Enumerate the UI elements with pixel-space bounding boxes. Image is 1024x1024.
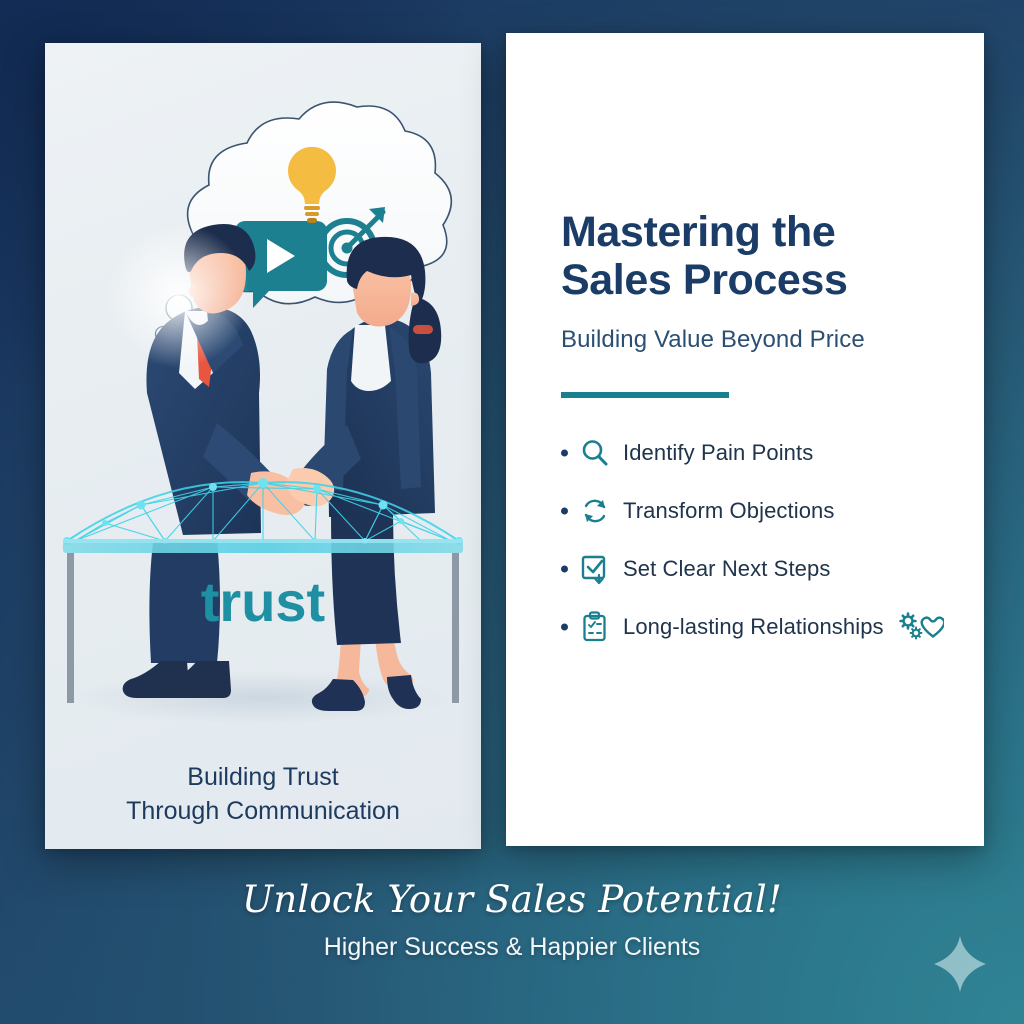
- bullet-dot: [561, 450, 568, 457]
- list-item[interactable]: Identify Pain Points: [561, 437, 961, 469]
- list-item-label: Identify Pain Points: [623, 440, 813, 466]
- title-line-1: Mastering the: [561, 208, 961, 256]
- sparkle-icon: [932, 934, 988, 994]
- list-item[interactable]: Transform Objections: [561, 495, 961, 527]
- illustration-caption: Building Trust Through Communication: [45, 761, 481, 828]
- trust-word: trust: [201, 570, 325, 633]
- bottom-banner: Unlock Your Sales Potential! Higher Succ…: [0, 878, 1024, 962]
- handshake-illustration: trust: [45, 43, 481, 743]
- banner-subline: Higher Success & Happier Clients: [0, 933, 1024, 962]
- caption-line-2: Through Communication: [45, 795, 481, 829]
- bullet-dot: [561, 566, 568, 573]
- bullet-dot: [561, 624, 568, 631]
- sales-process-card: Mastering the Sales Process Building Val…: [506, 33, 984, 846]
- sales-steps-list: Identify Pain Points Transform Objection…: [561, 437, 961, 643]
- refresh-cycle-icon: [579, 495, 611, 527]
- caption-line-1: Building Trust: [45, 761, 481, 795]
- gears-heart-icon: [898, 612, 944, 642]
- title-line-2: Sales Process: [561, 256, 961, 304]
- subtitle: Building Value Beyond Price: [561, 326, 961, 354]
- list-item-label: Transform Objections: [623, 498, 834, 524]
- checkbox-down-icon: [579, 553, 611, 585]
- list-item[interactable]: Set Clear Next Steps: [561, 553, 961, 585]
- list-item[interactable]: Long-lasting Relationships: [561, 611, 961, 643]
- magnifier-icon: [579, 437, 611, 469]
- page-title: Mastering the Sales Process: [561, 208, 961, 304]
- bullet-dot: [561, 508, 568, 515]
- title-divider: [561, 392, 729, 398]
- trust-illustration-card: trust Building Trust Through Communicati…: [45, 43, 481, 849]
- list-item-label: Set Clear Next Steps: [623, 556, 830, 582]
- clipboard-check-icon: [579, 611, 611, 643]
- banner-headline: Unlock Your Sales Potential!: [0, 878, 1024, 921]
- list-item-label: Long-lasting Relationships: [623, 614, 884, 640]
